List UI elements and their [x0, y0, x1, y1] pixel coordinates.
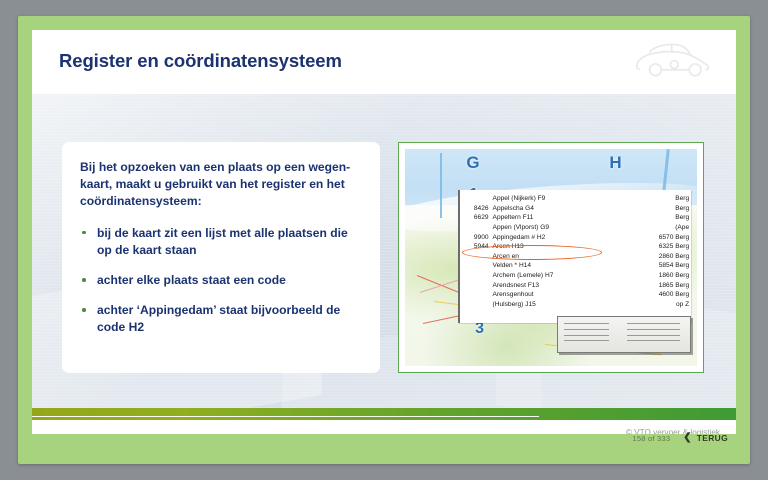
- register-row: 9900Appingedam # H2: [464, 233, 592, 243]
- list-item: achter ‘Appingedam’ staat bijvoorbeeld d…: [80, 302, 362, 336]
- navigation-band: 158 of 333 ❮ TERUG: [32, 421, 736, 457]
- slide-frame: Register en coördinatensysteem: [18, 16, 750, 464]
- register-postcode: [464, 261, 489, 271]
- register-row-right: 5854 Berg: [629, 261, 689, 271]
- legend-line: [564, 329, 609, 330]
- register-row-right: 2860 Berg: [629, 252, 689, 262]
- bullet-dot-icon: [82, 278, 86, 282]
- register-place: Arcen H13: [493, 242, 592, 252]
- screen: Register en coördinatensysteem: [0, 0, 768, 480]
- map-grid-label-g: G: [466, 153, 479, 173]
- car-icon: [634, 40, 712, 84]
- register-row-right: 1860 Berg: [629, 271, 689, 281]
- slide: Register en coördinatensysteem: [32, 30, 736, 434]
- register-postcode: [464, 271, 489, 281]
- register-place: Archem (Lemele) H7: [493, 271, 592, 281]
- back-button[interactable]: ❮ TERUG: [683, 433, 728, 443]
- legend-line: [627, 329, 680, 330]
- register-place: Arendsnest F13: [493, 281, 592, 291]
- register-postcode: [464, 281, 489, 291]
- bullet-dot-icon: [82, 308, 86, 312]
- map-grid-label-3: 3: [475, 320, 484, 338]
- register-place: Appen (Vlporst) G9: [493, 223, 592, 233]
- bullet-list: bij de kaart zit een lijst met alle plaa…: [80, 225, 362, 337]
- bullet-dot-icon: [82, 231, 86, 235]
- register-row: (Hulsberg) J15: [464, 300, 592, 310]
- register-postcode: [464, 290, 489, 300]
- register-postcode: [464, 300, 489, 310]
- register-postcode: 6629: [464, 213, 489, 223]
- legend-line: [627, 340, 680, 341]
- map-card: G H 1 3 Appel (Nijkerk) F98426Appelscha …: [398, 142, 704, 373]
- list-item-label: achter ‘Appingedam’ staat bijvoorbeeld d…: [97, 303, 340, 334]
- legend-line: [564, 323, 609, 324]
- register-row-right: 1865 Berg: [629, 281, 689, 291]
- register-list-overlay: Appel (Nijkerk) F98426Appelscha G46629Ap…: [458, 190, 692, 322]
- page-title: Register en coördinatensysteem: [59, 50, 342, 72]
- register-row: 5944Arcen H13: [464, 242, 592, 252]
- slide-header: Register en coördinatensysteem: [32, 30, 736, 94]
- list-item-label: bij de kaart zit een lijst met alle plaa…: [97, 226, 348, 257]
- map-grid-label-h: H: [609, 153, 621, 173]
- register-row: Appen (Vlporst) G9: [464, 223, 592, 233]
- register-place: Appeltern F11: [493, 213, 592, 223]
- intro-paragraph: Bij het opzoeken van een plaats op een w…: [80, 159, 362, 211]
- slide-body: Bij het opzoeken van een plaats op een w…: [32, 94, 736, 408]
- register-postcode: 8426: [464, 204, 489, 214]
- legend-line: [627, 335, 680, 336]
- text-card: Bij het opzoeken van een plaats op een w…: [62, 142, 380, 373]
- nav-divider-line: [32, 416, 539, 417]
- register-row: Arensgenhout: [464, 290, 592, 300]
- register-place: Appingedam # H2: [493, 233, 592, 243]
- register-row: Archem (Lemele) H7: [464, 271, 592, 281]
- register-place: Arcen en: [493, 252, 592, 262]
- list-item-label: achter elke plaats staat een code: [97, 273, 286, 287]
- nav-controls: 158 of 333 ❮ TERUG: [632, 433, 728, 443]
- green-divider-bar: [32, 408, 736, 420]
- register-postcode: 5944: [464, 242, 489, 252]
- map-legend-box: [557, 316, 691, 353]
- register-row: Velden * H14: [464, 261, 592, 271]
- register-row-right: Berg: [629, 194, 689, 204]
- register-place: Velden * H14: [493, 261, 592, 271]
- register-row: Appel (Nijkerk) F9: [464, 194, 592, 204]
- register-row: Arcen en: [464, 252, 592, 262]
- register-place: Appelscha G4: [493, 204, 592, 214]
- register-postcode: [464, 252, 489, 262]
- register-row-right: (Ape: [629, 223, 689, 233]
- page-count-label: 158 of 333: [632, 434, 670, 443]
- register-postcode: 9900: [464, 233, 489, 243]
- register-row-right: 6570 Berg: [629, 233, 689, 243]
- map-river: [440, 153, 442, 218]
- register-column-left: Appel (Nijkerk) F98426Appelscha G46629Ap…: [464, 194, 592, 309]
- back-button-label: TERUG: [697, 433, 728, 443]
- register-place: Appel (Nijkerk) F9: [493, 194, 592, 204]
- register-row: 6629Appeltern F11: [464, 213, 592, 223]
- legend-line: [564, 335, 609, 336]
- register-row-right: Berg: [629, 213, 689, 223]
- register-place: Arensgenhout: [493, 290, 592, 300]
- register-row-right: Berg: [629, 204, 689, 214]
- register-row-right: 6325 Berg: [629, 242, 689, 252]
- register-postcode: [464, 223, 489, 233]
- legend-line: [627, 323, 680, 324]
- register-postcode: [464, 194, 489, 204]
- register-column-right: BergBergBerg(Ape6570 Berg6325 Berg2860 B…: [629, 194, 689, 309]
- map-image: G H 1 3 Appel (Nijkerk) F98426Appelscha …: [405, 149, 697, 366]
- register-row: 8426Appelscha G4: [464, 204, 592, 214]
- register-row-right: op Z: [629, 300, 689, 310]
- list-item: achter elke plaats staat een code: [80, 272, 362, 289]
- legend-line: [564, 340, 609, 341]
- register-row: Arendsnest F13: [464, 281, 592, 291]
- register-row-right: 4600 Berg: [629, 290, 689, 300]
- chevron-left-icon: ❮: [683, 433, 691, 443]
- register-place: (Hulsberg) J15: [493, 300, 592, 310]
- list-item: bij de kaart zit een lijst met alle plaa…: [80, 225, 362, 259]
